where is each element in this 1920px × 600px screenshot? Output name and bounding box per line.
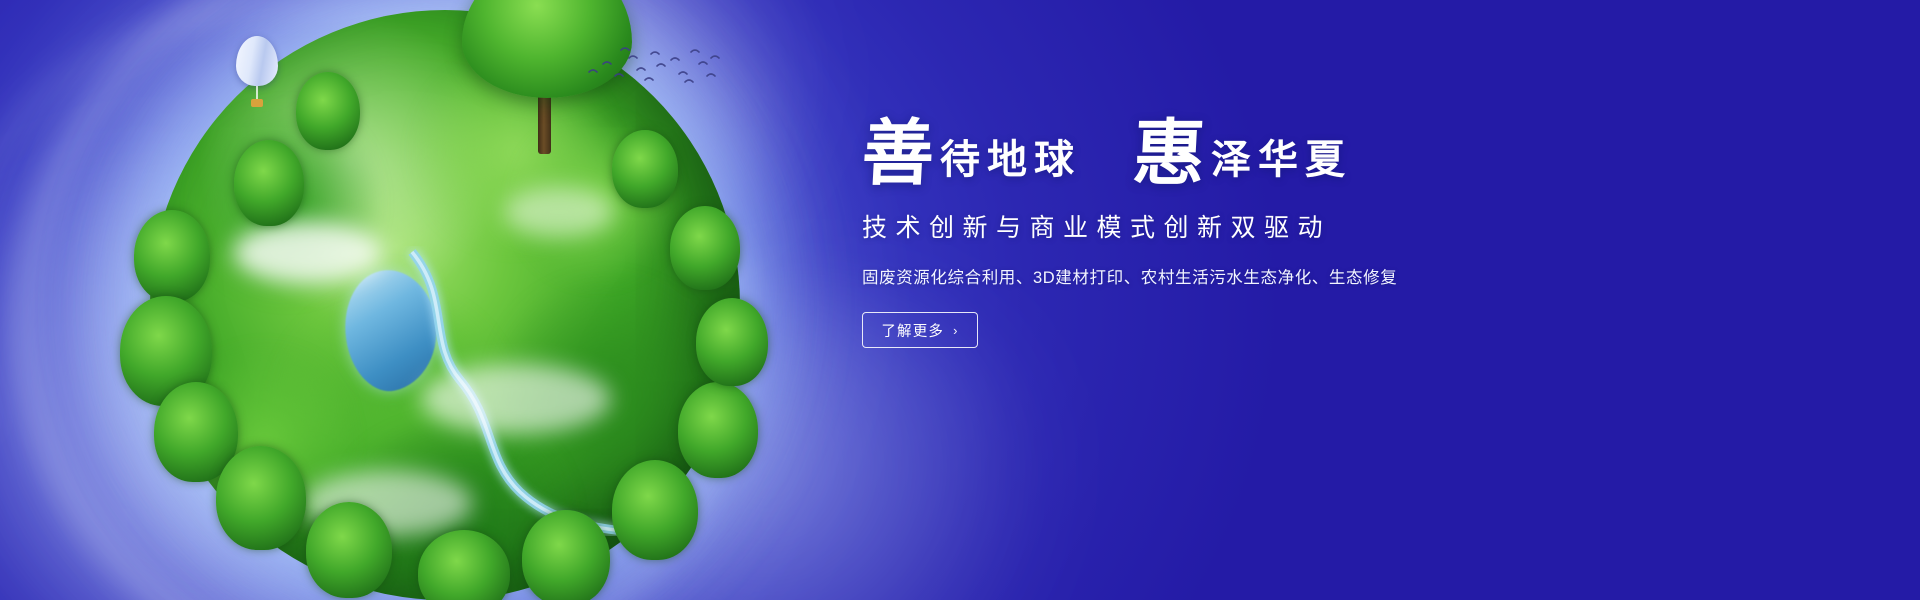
hot-air-balloon-icon xyxy=(236,36,282,108)
headline: 善 待地球 惠 泽华夏 xyxy=(862,120,1662,186)
rim-tree-icon xyxy=(670,206,740,290)
headline-group-1: 善 待地球 xyxy=(862,120,1081,186)
balloon-line xyxy=(256,86,258,100)
planet-cloud xyxy=(421,364,611,434)
learn-more-label: 了解更多 xyxy=(881,320,944,341)
headline-group-2: 惠 泽华夏 xyxy=(1133,120,1352,186)
headline-big-char-1: 善 xyxy=(860,120,935,186)
headline-small-text-1: 待地球 xyxy=(940,140,1081,186)
birds-flock-icon xyxy=(585,46,725,92)
rim-tree-icon xyxy=(134,210,210,302)
rim-tree-icon xyxy=(612,460,698,560)
rim-tree-icon xyxy=(234,140,304,226)
balloon-basket xyxy=(251,99,263,107)
chevron-right-icon: › xyxy=(953,323,959,338)
rim-tree-icon xyxy=(216,446,306,550)
rim-tree-icon xyxy=(306,502,392,598)
rim-tree-icon xyxy=(678,382,758,478)
headline-big-char-2: 惠 xyxy=(1131,120,1206,186)
headline-small-text-2: 泽华夏 xyxy=(1211,140,1352,186)
balloon-envelope xyxy=(236,36,278,86)
planet-cloud xyxy=(233,222,383,284)
learn-more-button[interactable]: 了解更多 › xyxy=(862,312,978,348)
rim-tree-icon xyxy=(696,298,768,386)
rim-tree-icon xyxy=(296,72,360,150)
rim-tree-icon xyxy=(522,510,610,600)
banner-subtitle: 技术创新与商业模式创新双驱动 xyxy=(862,208,1662,244)
hero-banner: 善 待地球 惠 泽华夏 技术创新与商业模式创新双驱动 固废资源化综合利用、3D建… xyxy=(0,0,1920,600)
planet-cloud xyxy=(504,187,614,237)
banner-description: 固废资源化综合利用、3D建材打印、农村生活污水生态净化、生态修复 xyxy=(862,264,1662,288)
banner-content: 善 待地球 惠 泽华夏 技术创新与商业模式创新双驱动 固废资源化综合利用、3D建… xyxy=(862,120,1662,348)
